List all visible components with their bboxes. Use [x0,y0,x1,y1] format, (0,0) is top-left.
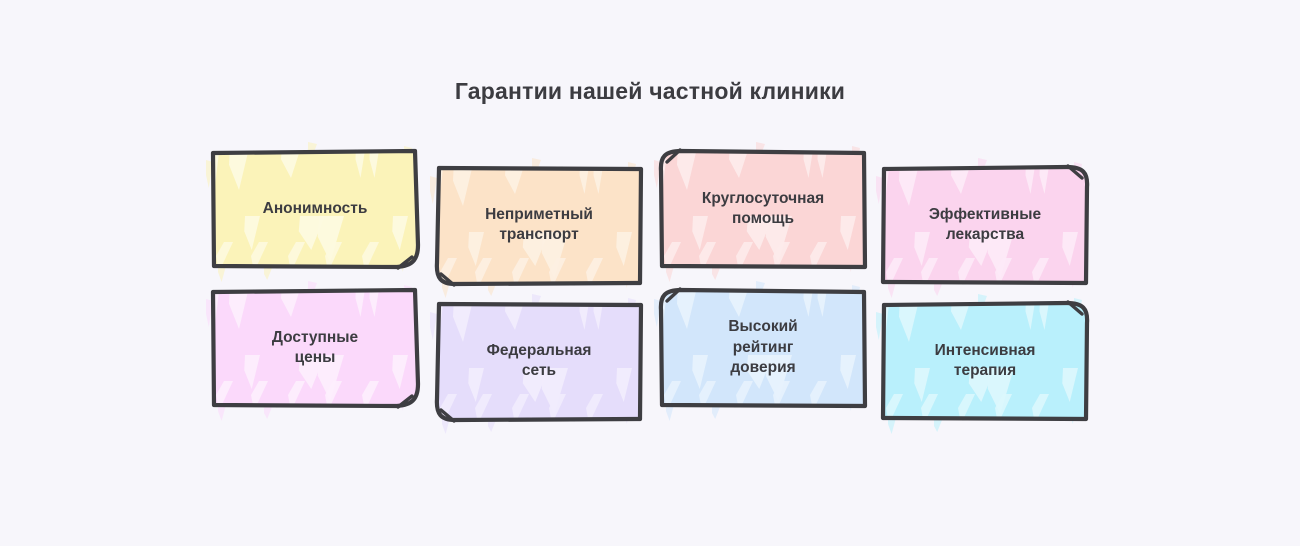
guarantee-card-high-trust-rating[interactable]: Высокий рейтинг доверия [660,289,866,407]
guarantee-card-label: Круглосуточная помощь [660,150,866,268]
guarantee-card-label: Высокий рейтинг доверия [660,289,866,407]
guarantee-card-label: Доступные цены [212,289,418,407]
guarantee-card-label: Анонимность [212,150,418,268]
guarantee-card-label: Эффективные лекарства [882,166,1088,284]
guarantee-card-federal-network[interactable]: Федеральная сеть [436,302,642,420]
guarantee-card-anonymity[interactable]: Анонимность [212,150,418,268]
guarantee-card-label: Неприметный транспорт [436,166,642,284]
guarantee-card-effective-medicines[interactable]: Эффективные лекарства [882,166,1088,284]
guarantee-card-intensive-therapy[interactable]: Интенсивная терапия [882,302,1088,420]
guarantee-card-label: Интенсивная терапия [882,302,1088,420]
guarantee-card-discreet-transport[interactable]: Неприметный транспорт [436,166,642,284]
guarantees-infographic: Гарантии нашей частной клиники Анонимнос… [0,0,1300,546]
guarantee-card-round-the-clock-help[interactable]: Круглосуточная помощь [660,150,866,268]
guarantee-card-label: Федеральная сеть [436,302,642,420]
guarantee-cards-grid: АнонимностьНеприметный транспортКруглосу… [0,0,1300,546]
guarantee-card-affordable-prices[interactable]: Доступные цены [212,289,418,407]
